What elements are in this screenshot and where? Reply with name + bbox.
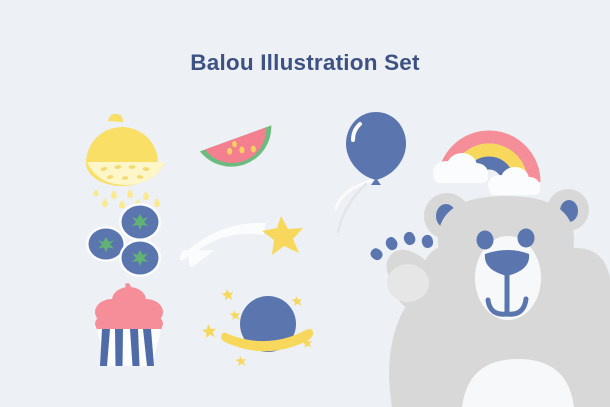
illustration-set-canvas: Balou Illustration Set [0, 0, 610, 407]
cupcake-illustration [84, 278, 174, 370]
planet-illustration [196, 272, 316, 372]
watermelon-illustration [188, 110, 288, 180]
bear-eye-right [518, 229, 535, 248]
bear-waving-paw [369, 232, 437, 310]
shooting-star-trail [180, 223, 266, 267]
blueberry-bottom-right [119, 239, 161, 277]
shooting-star-star [262, 216, 303, 255]
watermelon-body [200, 125, 281, 177]
bear-illustration [330, 178, 610, 407]
lemon-body [86, 114, 165, 186]
page-title: Balou Illustration Set [0, 50, 610, 76]
cupcake-wrapper [97, 329, 161, 366]
bear-eye-left [477, 231, 494, 250]
bear-paw-pad [387, 264, 429, 302]
lemon-illustration [72, 103, 182, 208]
blueberry-top-right [119, 203, 161, 241]
shooting-star-illustration [178, 200, 308, 275]
blueberries-illustration [82, 200, 177, 285]
bear-background-arc [338, 184, 366, 232]
cupcake-frosting [95, 283, 163, 330]
balloon-body [346, 112, 406, 180]
